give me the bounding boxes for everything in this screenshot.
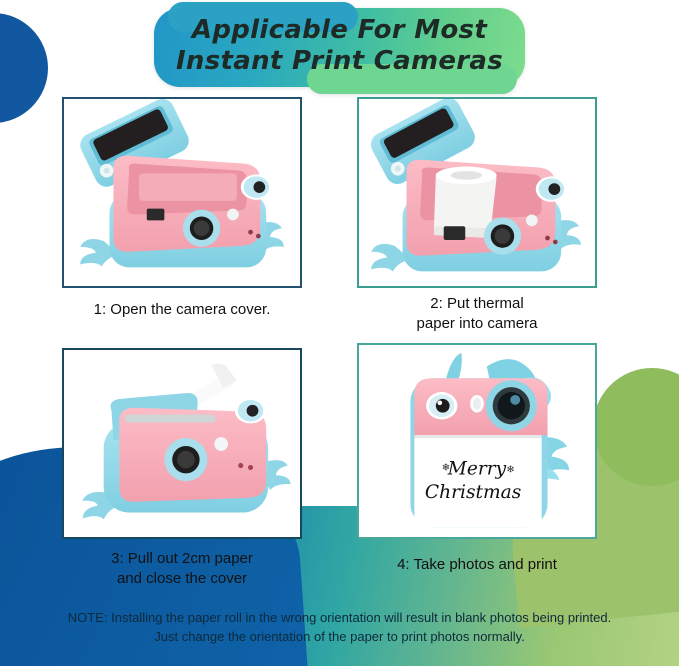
step-2-caption-line-1: 2: Put thermal xyxy=(357,294,597,314)
svg-text:Christmas: Christmas xyxy=(425,482,521,503)
step-2-caption-line-2: paper into camera xyxy=(357,314,597,334)
step-4-caption: 4: Take photos and print xyxy=(357,555,597,575)
svg-text:Merry: Merry xyxy=(447,458,507,479)
step-4-image-panel: Merry Christmas ❄ ❄ xyxy=(357,343,597,539)
steps-grid: 1: Open the camera cover. xyxy=(0,0,679,600)
step-2-caption: 2: Put thermal paper into camera xyxy=(357,294,597,334)
step-1-image-panel xyxy=(62,97,302,288)
note-line-2: Just change the orientation of the paper… xyxy=(0,627,679,646)
step-2-image-panel xyxy=(357,97,597,288)
note-line-1: NOTE: Installing the paper roll in the w… xyxy=(0,608,679,627)
camera-open-cover-illustration xyxy=(64,99,300,286)
camera-front-printing-photo-illustration: Merry Christmas ❄ ❄ xyxy=(359,345,595,537)
camera-with-paper-roll-illustration xyxy=(359,99,595,286)
svg-text:❄: ❄ xyxy=(442,462,450,473)
step-3-caption: 3: Pull out 2cm paper and close the cove… xyxy=(62,549,302,589)
note-text: NOTE: Installing the paper roll in the w… xyxy=(0,608,679,646)
step-1-caption: 1: Open the camera cover. xyxy=(62,300,302,320)
step-3-caption-line-1: 3: Pull out 2cm paper xyxy=(62,549,302,569)
camera-closed-with-paper-out-illustration xyxy=(64,350,300,537)
svg-text:❄: ❄ xyxy=(506,464,514,475)
step-3-image-panel xyxy=(62,348,302,539)
step-3-caption-line-2: and close the cover xyxy=(62,569,302,589)
